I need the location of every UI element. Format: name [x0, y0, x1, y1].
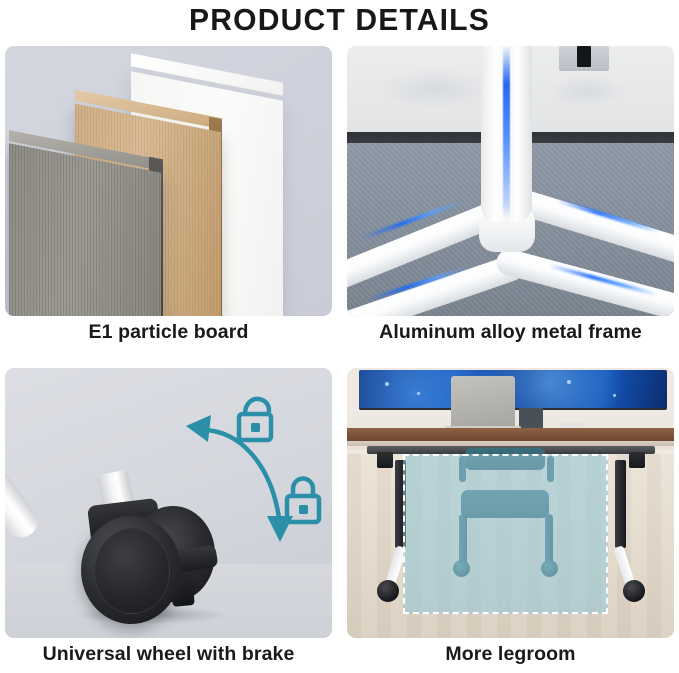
wall-reflection-left	[375, 68, 495, 110]
closed-padlock-icon	[287, 479, 319, 523]
white-table-leg	[5, 405, 44, 544]
panel-image-e1-particle-board	[5, 46, 332, 316]
wall-fixture-dark-slot	[577, 46, 591, 67]
desk-post-right	[615, 460, 626, 548]
curved-arrow-path	[203, 430, 279, 518]
desk-tabletop	[347, 428, 674, 441]
closed-padlock-annotation	[281, 476, 325, 526]
panel-image-universal-wheel-with-brake	[5, 368, 332, 638]
panel-caption-aluminum-alloy-metal-frame: Aluminum alloy metal frame	[347, 318, 674, 346]
screen-sparkle	[417, 392, 420, 395]
detail-cell-more-legroom: More legroom	[347, 368, 674, 670]
legroom-highlight-area	[403, 454, 608, 614]
wall-reflection-right	[547, 74, 627, 108]
monitor-stand	[519, 408, 543, 428]
details-grid: E1 particle board	[5, 46, 674, 670]
screen-sparkle	[613, 394, 616, 397]
laptop	[451, 376, 515, 428]
arrow-head-unlock	[186, 415, 211, 442]
detail-cell-aluminum-alloy-metal-frame: Aluminum alloy metal frame	[347, 46, 674, 348]
open-padlock-icon	[239, 399, 271, 440]
detail-cell-universal-wheel-with-brake: Universal wheel with brake	[5, 368, 332, 670]
brake-toggle-annotation	[183, 390, 313, 550]
detail-cell-e1-particle-board: E1 particle board	[5, 46, 332, 348]
panel-caption-more-legroom: More legroom	[347, 640, 674, 668]
desk-caster-left	[377, 580, 399, 602]
panel-image-aluminum-alloy-metal-frame	[347, 46, 674, 316]
page-title: PRODUCT DETAILS	[10, 2, 669, 38]
panel-caption-e1-particle-board: E1 particle board	[5, 318, 332, 346]
caster-wheel-front-inner-disc	[94, 528, 170, 614]
desk-caster-right	[623, 580, 645, 602]
screen-sparkle	[567, 380, 571, 384]
panel-caption-universal-wheel-with-brake: Universal wheel with brake	[5, 640, 332, 668]
frame-bracket-right	[629, 452, 645, 468]
column-blue-highlight	[503, 46, 510, 218]
screen-sparkle	[385, 382, 389, 386]
product-details-infographic: PRODUCT DETAILS E1 particle board	[0, 0, 679, 673]
grey-board	[9, 143, 161, 316]
frame-bracket-left	[377, 452, 393, 468]
panel-image-more-legroom	[347, 368, 674, 638]
